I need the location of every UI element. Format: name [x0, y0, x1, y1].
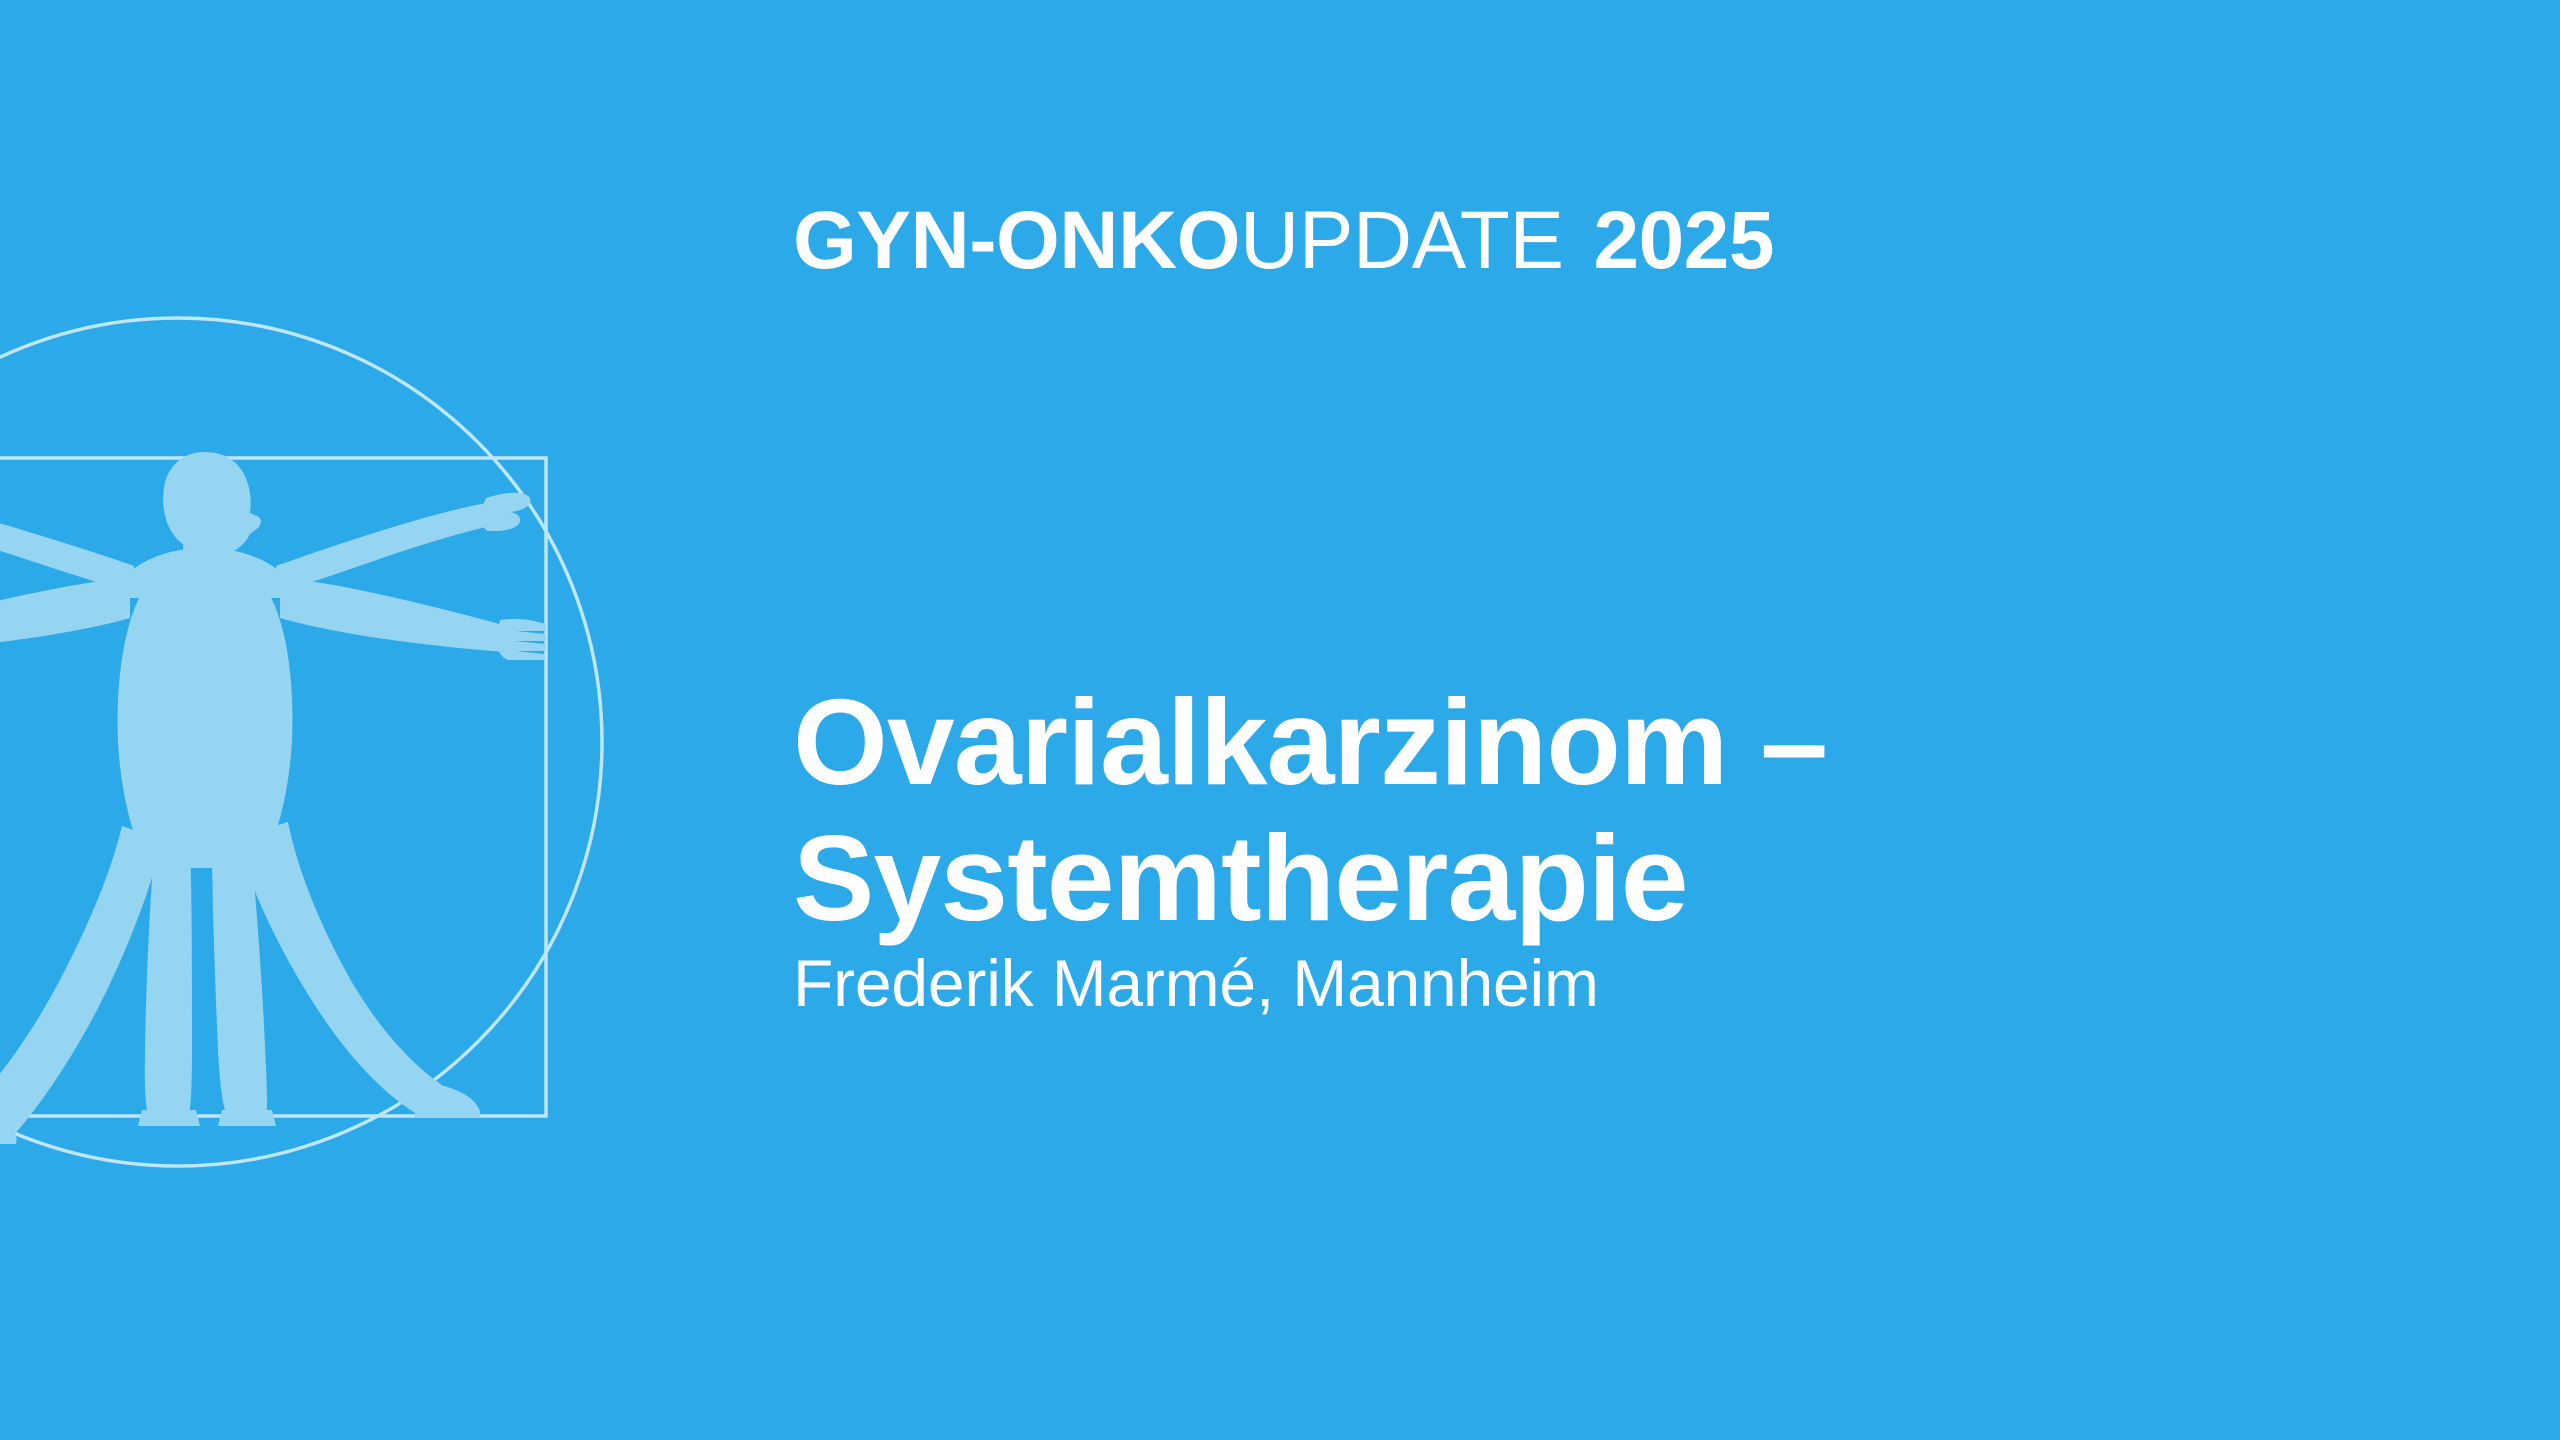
title-slide: GYN-ONKOUPDATE2025 Ovarialkarzinom – Sys… [0, 0, 2560, 1440]
vitruvian-man-artwork [0, 0, 700, 1440]
vitruvian-circle-icon [0, 318, 602, 1166]
brand-header: GYN-ONKOUPDATE2025 [793, 200, 1774, 282]
page-title: Ovarialkarzinom – Systemtherapie [793, 674, 2243, 947]
author-byline: Frederik Marmé, Mannheim [793, 950, 1599, 1016]
brand-name-bold: GYN-ONKO [793, 195, 1240, 286]
vitruvian-figure-icon [0, 452, 546, 1144]
vitruvian-square-icon [0, 458, 546, 1116]
page-title-line-1: Ovarialkarzinom – [793, 674, 2243, 811]
brand-year: 2025 [1594, 195, 1774, 286]
brand-name-light: UPDATE [1240, 195, 1564, 286]
page-title-line-2: Systemtherapie [793, 810, 2243, 947]
